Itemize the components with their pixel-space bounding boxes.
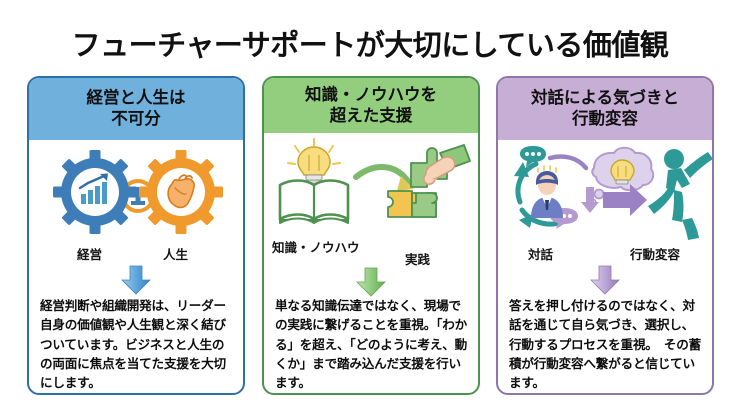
card-body-chishiki-know-how: 知識・ノウハウ 実践 単なる知識伝達ではなく、現場での実践に繋げることを重視。「… <box>264 133 478 393</box>
gears-chart-heart-icon <box>29 140 243 244</box>
value-card-keiei-jinsei: 経営と人生は 不可分 <box>27 76 245 395</box>
card-header-line1: 経営と人生は <box>87 88 186 109</box>
icon-label-right: 実践 <box>405 249 430 268</box>
card-header-taiwa-kodo-henyo: 対話による気づきと 行動変容 <box>498 78 712 140</box>
icon-label-row: 知識・ノウハウ 実践 <box>264 237 478 257</box>
card-body-text: 単なる知識伝達ではなく、現場での実践に繋げることを重視。「わかる」を超え、「どの… <box>264 297 478 393</box>
icon-label-right: 人生 <box>163 244 188 263</box>
page-title: フューチャーサポートが大切にしている価値観 <box>0 22 740 64</box>
card-body-text: 経営判断や組織開発は、リーダー自身の価値観や人生観と深く結びついています。ビジネ… <box>29 295 243 393</box>
value-card-chishiki-know-how: 知識・ノウハウを 超えた支援 <box>262 76 480 395</box>
down-arrow-icon <box>119 265 153 295</box>
card-body-keiei-jinsei: 経営 人生 経営判断や組織開発は、リーダー自身の価値観や人生観と深く結びついてい… <box>29 140 243 393</box>
card-header-line2: 不可分 <box>87 109 186 130</box>
down-arrow-icon <box>354 267 388 297</box>
page-title-text: フューチャーサポートが大切にしている価値観 <box>72 30 669 62</box>
book-lightbulb-puzzle-icon <box>264 133 478 237</box>
icon-label-left: 知識・ノウハウ <box>272 237 360 256</box>
icon-label-left: 対話 <box>528 244 553 263</box>
card-header-line2: 行動変容 <box>531 109 679 130</box>
icon-label-row: 対話 行動変容 <box>498 244 712 264</box>
card-header-line2: 超えた支援 <box>305 106 437 127</box>
icon-label-row: 経営 人生 <box>29 244 243 264</box>
card-header-chishiki-know-how: 知識・ノウハウを 超えた支援 <box>264 78 478 133</box>
card-header-keiei-jinsei: 経営と人生は 不可分 <box>29 78 243 140</box>
card-body-taiwa-kodo-henyo: 対話 行動変容 答えを押し付けるのではなく、対話を通じて自ら気づき、選択し、行動… <box>498 140 712 393</box>
icon-label-left: 経営 <box>77 244 102 263</box>
card-header-line1: 対話による気づきと <box>531 88 679 109</box>
value-card-taiwa-kodo-henyo: 対話による気づきと 行動変容 <box>496 76 714 395</box>
down-arrow-icon <box>588 265 622 295</box>
dialogue-insight-running-person-icon <box>498 140 712 244</box>
card-header-line1: 知識・ノウハウを <box>305 85 437 106</box>
card-body-text: 答えを押し付けるのではなく、対話を通じて自ら気づき、選択し、行動するプロセスを重… <box>498 295 712 393</box>
icon-label-right: 行動変容 <box>630 244 680 263</box>
